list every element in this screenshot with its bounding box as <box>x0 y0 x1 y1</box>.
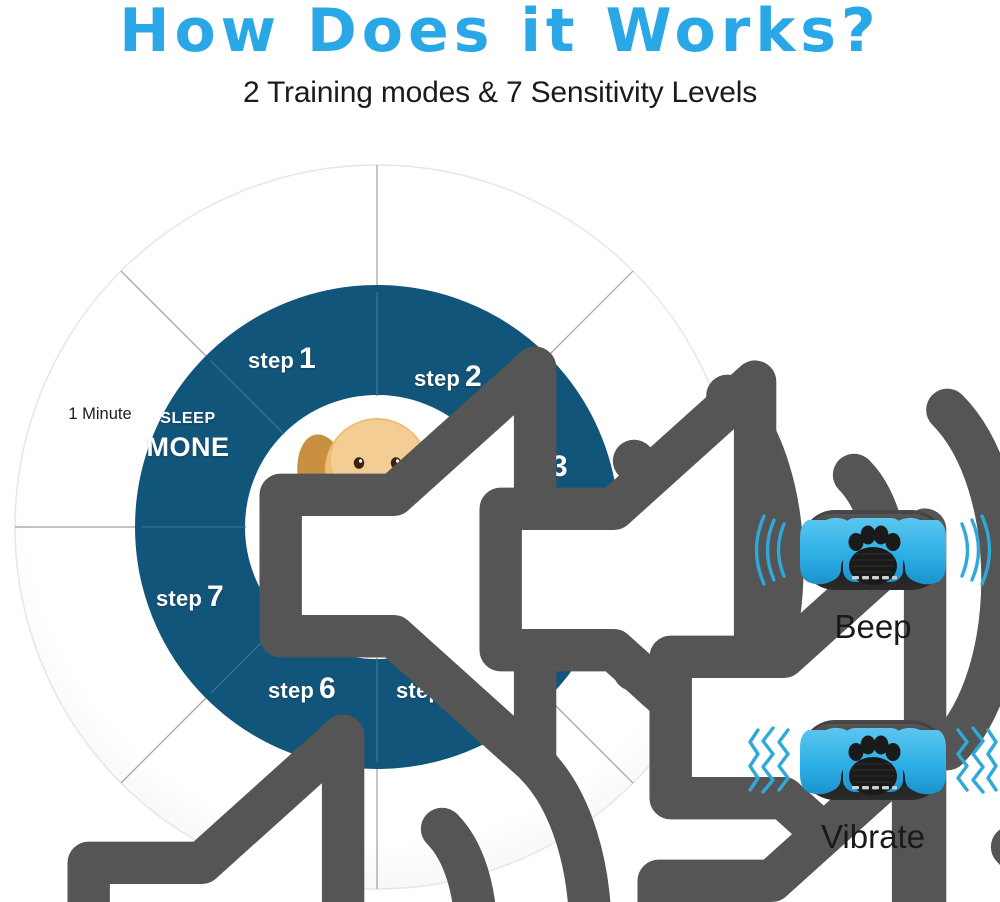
beep-wave-right <box>962 516 990 584</box>
outer-label-step7: 5 seconds 4 seconds <box>18 566 178 902</box>
beep-wave-left <box>757 516 785 584</box>
outer-label-sleep: 1 Minute <box>30 405 170 424</box>
device-beep: Beep <box>748 494 998 646</box>
page-subtitle: 2 Training modes & 7 Sensitivity Levels <box>0 76 1000 110</box>
beep-device-illustration <box>748 494 998 606</box>
infographic-root: How Does it Works? 2 Training modes & 7 … <box>0 0 1000 902</box>
page-title: How Does it Works? <box>0 0 1000 66</box>
device-caption-vibrate: Vibrate <box>748 818 998 856</box>
beep-icon <box>18 566 753 902</box>
device-vibrate: Vibrate <box>748 704 998 856</box>
sleep-duration-text: 1 Minute <box>68 405 131 424</box>
device-caption-beep: Beep <box>748 608 998 646</box>
vibrate-device-illustration <box>748 704 998 816</box>
vibrate-wave-right <box>958 728 996 792</box>
vibrate-wave-left <box>750 728 788 792</box>
training-wheel-diagram: SLEEP MONE step1 step2 step3 step4 step5… <box>10 160 745 895</box>
